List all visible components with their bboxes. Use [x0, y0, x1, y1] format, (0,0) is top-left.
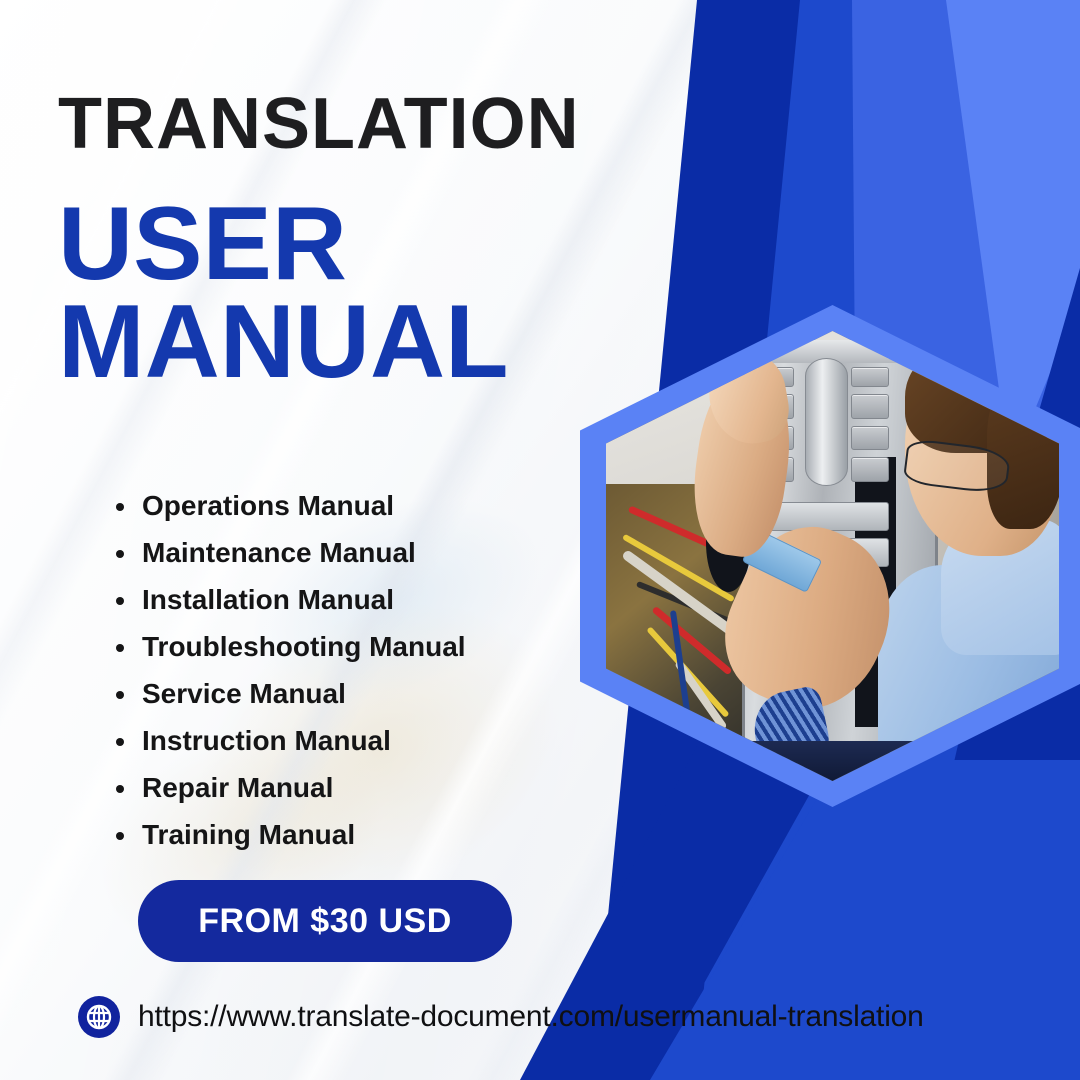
title-line-2: MANUAL [58, 294, 509, 392]
kicker-heading: TRANSLATION [58, 88, 580, 160]
list-item: Installation Manual [112, 576, 466, 623]
price-cta-button[interactable]: FROM $30 USD [138, 880, 512, 962]
list-item: Instruction Manual [112, 717, 466, 764]
globe-icon [78, 996, 120, 1038]
services-list: Operations Manual Maintenance Manual Ins… [112, 482, 466, 858]
website-url[interactable]: https://www.translate-document.com/userm… [138, 1000, 924, 1034]
list-item: Training Manual [112, 811, 466, 858]
list-item: Maintenance Manual [112, 529, 466, 576]
title-line-1: USER [58, 196, 509, 294]
poster-canvas: TRANSLATION USER MANUAL Operations Manua… [0, 0, 1080, 1080]
list-item: Repair Manual [112, 764, 466, 811]
list-item: Troubleshooting Manual [112, 623, 466, 670]
list-item: Operations Manual [112, 482, 466, 529]
page-title: USER MANUAL [58, 196, 509, 392]
list-item: Service Manual [112, 670, 466, 717]
footer-website[interactable]: https://www.translate-document.com/userm… [78, 996, 924, 1038]
hero-image-hexagon [580, 305, 1080, 807]
